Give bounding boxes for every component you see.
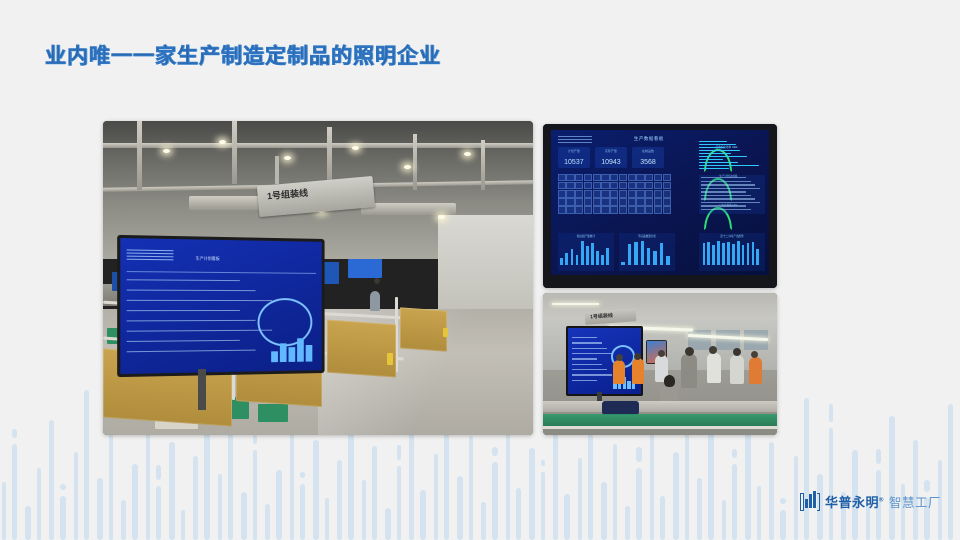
grid-cell bbox=[610, 206, 618, 214]
chart-title: 各班组产量统计 bbox=[558, 234, 615, 238]
screen-table-row bbox=[572, 358, 597, 359]
kpi-card: 实际产量 10943 bbox=[595, 147, 628, 167]
grid-cell bbox=[601, 198, 609, 206]
table-row bbox=[701, 191, 747, 192]
barrier-panel bbox=[327, 320, 396, 378]
chart-bar bbox=[596, 251, 599, 265]
decor-bar-segment bbox=[780, 498, 786, 504]
worker-head bbox=[685, 347, 694, 356]
screen-table-row bbox=[572, 374, 612, 375]
decor-bar-segment bbox=[876, 449, 881, 464]
chart-bar bbox=[727, 242, 730, 265]
chart-bar bbox=[634, 242, 638, 265]
decor-bar bbox=[469, 436, 473, 540]
chart-bar bbox=[752, 242, 755, 266]
decor-bar bbox=[697, 478, 702, 540]
grid-cell bbox=[593, 206, 601, 214]
grid-cell bbox=[654, 174, 662, 182]
decor-bar-segment bbox=[12, 429, 17, 438]
worker-head bbox=[616, 354, 623, 361]
decor-bar bbox=[362, 480, 366, 540]
grid-cell bbox=[636, 206, 644, 214]
kpi-card: 计划产量 10537 bbox=[558, 147, 591, 167]
decor-bar-segment bbox=[156, 465, 161, 480]
worker-head bbox=[374, 278, 380, 284]
decor-bar bbox=[60, 496, 66, 540]
chart-bar bbox=[628, 244, 632, 265]
ceiling-lamp bbox=[219, 140, 226, 144]
decor-bar bbox=[601, 482, 607, 540]
registered-mark: ® bbox=[879, 498, 884, 504]
light-tube bbox=[552, 303, 599, 306]
chart-title: 不良品数量分析 bbox=[619, 234, 676, 238]
decor-bar bbox=[49, 420, 54, 540]
grid-cell bbox=[654, 206, 662, 214]
grid-cell bbox=[584, 206, 592, 214]
chart-bar bbox=[653, 251, 657, 265]
kpi-value: 3568 bbox=[632, 159, 665, 166]
grid-cell bbox=[566, 174, 574, 182]
kpi-label: 在制品数 bbox=[632, 149, 665, 153]
grid-cell bbox=[628, 198, 636, 206]
grid-cell bbox=[575, 174, 583, 182]
decor-bar bbox=[578, 458, 582, 540]
grid-cell bbox=[628, 190, 636, 198]
decor-bar bbox=[492, 462, 498, 540]
chart-bar bbox=[703, 243, 706, 265]
floor-marker bbox=[387, 353, 393, 365]
grid-cell bbox=[566, 190, 574, 198]
table-row bbox=[701, 195, 751, 196]
dashboard-horizontal-bar-chart bbox=[699, 139, 764, 171]
hbar bbox=[699, 141, 727, 143]
decor-bar bbox=[913, 440, 918, 540]
chart-bar bbox=[660, 243, 664, 265]
grid-cell bbox=[558, 198, 566, 206]
hbar bbox=[699, 144, 736, 146]
screen-table-row bbox=[127, 349, 256, 352]
screen-table-row bbox=[127, 289, 256, 291]
decor-bar bbox=[650, 420, 654, 540]
decor-bar bbox=[625, 506, 630, 540]
worker bbox=[707, 353, 721, 383]
grid-cell bbox=[645, 174, 653, 182]
ceiling-beam bbox=[103, 143, 533, 148]
grid-cell bbox=[584, 174, 592, 182]
grid-cell bbox=[610, 182, 618, 190]
decor-bar bbox=[420, 490, 426, 540]
grid-cell bbox=[575, 198, 583, 206]
screen-table-row bbox=[572, 342, 602, 343]
decor-bar bbox=[169, 442, 175, 540]
screen-table-row bbox=[127, 340, 240, 343]
monitor-stand bbox=[198, 369, 206, 410]
page-title: 业内唯一一家生产制造定制品的照明企业 bbox=[45, 40, 441, 70]
screen-table-row bbox=[572, 348, 607, 349]
grid-cell bbox=[610, 198, 618, 206]
decor-bar bbox=[457, 476, 463, 540]
grid-cell bbox=[654, 182, 662, 190]
grid-cell bbox=[584, 198, 592, 206]
grid-cell bbox=[593, 182, 601, 190]
ceiling-beam bbox=[327, 127, 332, 187]
hbar bbox=[699, 159, 722, 161]
sign-post bbox=[275, 156, 279, 184]
grid-cell bbox=[601, 174, 609, 182]
rail-post bbox=[395, 297, 398, 372]
window bbox=[716, 330, 739, 350]
logo-subtitle: 智慧工厂 bbox=[889, 492, 941, 511]
hbar bbox=[699, 162, 738, 164]
grid-cell bbox=[628, 182, 636, 190]
decor-bar-segment bbox=[397, 445, 401, 460]
decor-bar bbox=[804, 398, 809, 540]
ceiling-beam bbox=[232, 121, 237, 184]
decor-bar bbox=[397, 466, 401, 540]
decor-bar-segment bbox=[924, 480, 930, 492]
decor-bar bbox=[613, 444, 617, 540]
worker bbox=[681, 354, 697, 388]
kpi-label: 实际产量 bbox=[595, 149, 628, 153]
decor-bar bbox=[889, 416, 895, 540]
decor-bar-segment bbox=[732, 449, 737, 458]
decor-bar bbox=[337, 460, 342, 540]
decor-bar bbox=[37, 468, 41, 540]
photo-production-dashboard: 生产数据看板 计划产量 10537 实际产量 10943 在制品数 3568 设… bbox=[543, 124, 777, 288]
decor-bar bbox=[156, 486, 161, 540]
screen-divider bbox=[127, 271, 316, 274]
logo-brand-text: 华普永明 bbox=[825, 495, 879, 510]
table-row bbox=[701, 205, 747, 206]
decor-bar bbox=[434, 454, 438, 540]
table-row bbox=[701, 198, 756, 199]
decor-bar bbox=[722, 500, 726, 540]
grid-cell bbox=[654, 190, 662, 198]
grid-cell bbox=[645, 198, 653, 206]
screen-logo bbox=[127, 249, 173, 262]
table-row bbox=[701, 209, 751, 210]
grid-cell bbox=[575, 190, 583, 198]
grid-cell bbox=[566, 182, 574, 190]
screen-table-row bbox=[127, 310, 240, 312]
photo-factory-assembly-aisle: 1号组装线 生产计划看板 bbox=[103, 121, 533, 435]
dashboard-title: 生产数据看板 bbox=[634, 136, 664, 142]
decor-bar bbox=[564, 494, 570, 540]
screen-table-row bbox=[127, 330, 272, 333]
grid-cell bbox=[558, 206, 566, 214]
grid-cell bbox=[619, 174, 627, 182]
chart-bar bbox=[641, 241, 645, 266]
decor-bar-segment bbox=[253, 435, 257, 444]
grid-cell bbox=[584, 182, 592, 190]
logo-mark-icon bbox=[800, 493, 820, 511]
decor-bar bbox=[780, 510, 786, 540]
decor-bar bbox=[673, 452, 679, 540]
duct bbox=[361, 203, 456, 215]
grid-cell bbox=[619, 198, 627, 206]
decor-bar bbox=[300, 484, 305, 540]
table-row bbox=[701, 181, 751, 182]
grid-cell bbox=[663, 198, 671, 206]
dashboard-bar-chart-1: 各班组产量统计 bbox=[558, 233, 615, 271]
decor-bar bbox=[97, 478, 103, 540]
screen-title: 生产计划看板 bbox=[196, 256, 220, 262]
green-barrier bbox=[543, 414, 777, 427]
screen-table-row bbox=[127, 320, 256, 322]
safety-rail bbox=[543, 426, 777, 429]
decor-bar-segment bbox=[60, 484, 66, 490]
dashboard-screen: 生产数据看板 计划产量 10537 实际产量 10943 在制品数 3568 设… bbox=[551, 130, 769, 275]
table-row bbox=[701, 184, 756, 185]
table-row bbox=[701, 177, 747, 178]
decor-bar bbox=[541, 472, 545, 540]
ceiling-lamp bbox=[404, 165, 411, 169]
decor-bar bbox=[553, 426, 558, 540]
assembly-line-sign-label: 1号组装线 bbox=[590, 312, 613, 321]
chart-bar bbox=[571, 249, 574, 265]
grid-cell bbox=[619, 190, 627, 198]
chart-bar bbox=[742, 245, 745, 265]
grid-cell bbox=[654, 198, 662, 206]
hbar bbox=[699, 153, 730, 155]
grid-cell bbox=[584, 190, 592, 198]
chart-bar bbox=[560, 258, 563, 266]
grid-cell bbox=[663, 206, 671, 214]
decor-bar bbox=[265, 504, 270, 540]
chart-bar bbox=[576, 255, 579, 265]
dashboard-data-grid bbox=[558, 174, 671, 215]
decor-bar bbox=[253, 450, 257, 540]
decor-bar bbox=[132, 464, 138, 540]
grid-cell bbox=[663, 174, 671, 182]
work-bench bbox=[543, 401, 777, 412]
worker-head bbox=[658, 350, 665, 357]
production-board-monitor: 生产计划看板 bbox=[117, 235, 324, 377]
logo-bar bbox=[805, 499, 808, 508]
worker-head bbox=[664, 375, 675, 387]
decor-bar-segment bbox=[541, 460, 545, 466]
decor-bar bbox=[794, 456, 798, 540]
decor-bar bbox=[660, 496, 665, 540]
brand-logo: 华普永明® 智慧工厂 bbox=[800, 492, 941, 511]
table-row bbox=[701, 202, 761, 203]
grid-cell bbox=[558, 174, 566, 182]
decor-bar bbox=[506, 422, 510, 540]
grid-cell bbox=[610, 190, 618, 198]
decor-bar bbox=[529, 448, 535, 540]
chart-bar bbox=[581, 241, 584, 266]
decor-bar bbox=[228, 428, 233, 540]
chart-bar bbox=[717, 241, 720, 266]
decor-bar bbox=[829, 428, 833, 540]
hbar bbox=[699, 147, 724, 149]
decor-bar bbox=[2, 482, 6, 540]
screen-table-row bbox=[572, 353, 612, 354]
grid-cell bbox=[593, 174, 601, 182]
ceiling-beam bbox=[137, 121, 142, 190]
worker bbox=[749, 357, 762, 384]
ceiling-lamp bbox=[284, 156, 291, 160]
grid-cell bbox=[636, 174, 644, 182]
table-row bbox=[701, 188, 761, 189]
decor-bar bbox=[12, 444, 17, 540]
grid-cell bbox=[619, 182, 627, 190]
decor-bar bbox=[218, 474, 222, 540]
grid-cell bbox=[645, 182, 653, 190]
grid-cell bbox=[663, 190, 671, 198]
decor-bar-segment bbox=[300, 472, 305, 478]
decor-bar bbox=[636, 468, 642, 540]
worker-head bbox=[709, 346, 717, 354]
decor-bar bbox=[276, 470, 282, 540]
grid-cell bbox=[645, 206, 653, 214]
bracket-right bbox=[817, 493, 820, 511]
dashboard-logo bbox=[558, 136, 593, 145]
decor-bar bbox=[241, 492, 247, 540]
green-bin bbox=[258, 404, 288, 423]
grid-cell bbox=[575, 206, 583, 214]
screen-bar-chart bbox=[262, 336, 312, 363]
decor-bar-segment bbox=[829, 404, 833, 422]
slide-canvas: 业内唯一一家生产制造定制品的照明企业 1号组装线 bbox=[0, 0, 960, 540]
worker-head bbox=[733, 348, 741, 356]
grid-cell bbox=[566, 206, 574, 214]
decor-bar bbox=[84, 390, 89, 540]
decor-bar bbox=[193, 456, 198, 540]
worker bbox=[730, 355, 744, 384]
logo-bar bbox=[809, 494, 812, 508]
hbar bbox=[699, 156, 747, 158]
decor-bar bbox=[948, 404, 953, 540]
grid-cell bbox=[601, 206, 609, 214]
ceiling-beam bbox=[481, 140, 485, 190]
decor-bar bbox=[109, 432, 113, 540]
grid-cell bbox=[663, 182, 671, 190]
decor-bar-segment bbox=[636, 447, 642, 462]
grid-cell bbox=[566, 198, 574, 206]
worker bbox=[613, 360, 625, 384]
chart-bar bbox=[621, 262, 625, 265]
photo-assembly-line-workers: 1号组装线 bbox=[543, 293, 777, 435]
chart-bar bbox=[722, 243, 725, 266]
grid-cell bbox=[593, 190, 601, 198]
screen-table-row bbox=[127, 300, 272, 302]
worker bbox=[632, 358, 644, 384]
decor-bar bbox=[708, 432, 714, 540]
dashboard-bar-chart-3: 近十二小时产出趋势 bbox=[699, 233, 764, 271]
kpi-value: 10537 bbox=[558, 159, 591, 166]
grid-cell bbox=[593, 198, 601, 206]
decor-bar bbox=[757, 486, 761, 540]
chart-title: 近十二小时产出趋势 bbox=[699, 234, 764, 238]
chart-bar bbox=[747, 243, 750, 266]
grid-cell bbox=[645, 190, 653, 198]
decor-bar-segment bbox=[492, 447, 498, 456]
chart-bar bbox=[591, 243, 594, 266]
hbar bbox=[699, 150, 740, 152]
grid-cell bbox=[558, 182, 566, 190]
chart-bar bbox=[707, 242, 710, 266]
worker bbox=[370, 291, 380, 311]
chart-bar bbox=[586, 246, 589, 265]
chart-bar bbox=[647, 248, 651, 265]
chart-bar bbox=[712, 245, 715, 265]
decor-bar bbox=[769, 442, 774, 540]
assembly-line-sign-label: 1号组装线 bbox=[266, 186, 308, 203]
decor-bar bbox=[313, 440, 319, 540]
hbar bbox=[699, 165, 759, 167]
bracket-left bbox=[800, 493, 804, 511]
chart-bar bbox=[601, 255, 604, 266]
chart-bar bbox=[737, 241, 740, 266]
grid-cell bbox=[558, 190, 566, 198]
hbar bbox=[699, 168, 728, 170]
decor-bar bbox=[121, 500, 126, 540]
grid-cell bbox=[601, 190, 609, 198]
floor-marker bbox=[443, 328, 448, 337]
grid-cell bbox=[636, 190, 644, 198]
decor-bar bbox=[325, 498, 329, 540]
logo-brand-name: 华普永明® bbox=[825, 492, 884, 511]
worker-head bbox=[634, 353, 641, 360]
grid-cell bbox=[636, 198, 644, 206]
grid-cell bbox=[610, 174, 618, 182]
decor-bar bbox=[385, 508, 391, 540]
chart-bar bbox=[666, 256, 670, 265]
grid-cell bbox=[636, 182, 644, 190]
decor-bar bbox=[372, 446, 377, 540]
decor-bar bbox=[181, 510, 185, 540]
grid-cell bbox=[601, 182, 609, 190]
decor-bar bbox=[481, 502, 486, 540]
chart-bar bbox=[756, 249, 759, 265]
screen-table-row bbox=[572, 369, 607, 370]
kpi-label: 计划产量 bbox=[558, 149, 591, 153]
kpi-value: 10943 bbox=[595, 159, 628, 166]
dashboard-detail-table bbox=[699, 175, 764, 214]
barrier-panel bbox=[400, 308, 447, 352]
decor-bar bbox=[74, 452, 78, 540]
grid-cell bbox=[628, 174, 636, 182]
screen-table-row bbox=[572, 364, 602, 365]
grid-cell bbox=[628, 206, 636, 214]
blue-bin bbox=[348, 259, 382, 278]
grid-cell bbox=[619, 206, 627, 214]
workstation-screen bbox=[568, 328, 641, 395]
chart-bar bbox=[565, 253, 568, 265]
chart-bar bbox=[606, 248, 609, 266]
chart-bar bbox=[732, 244, 735, 266]
production-board-screen: 生产计划看板 bbox=[121, 238, 322, 374]
grid-cell bbox=[575, 182, 583, 190]
decor-bar bbox=[25, 506, 31, 540]
decor-bar bbox=[732, 464, 737, 540]
dashboard-bar-chart-2: 不良品数量分析 bbox=[619, 233, 676, 271]
kpi-card: 在制品数 3568 bbox=[632, 147, 665, 167]
screen-table-row bbox=[127, 279, 240, 282]
screen-table-row bbox=[572, 337, 597, 338]
screen-table-row bbox=[572, 380, 597, 381]
decor-bar bbox=[516, 488, 521, 540]
ceiling-beam bbox=[413, 134, 417, 191]
logo-bar bbox=[813, 491, 816, 508]
